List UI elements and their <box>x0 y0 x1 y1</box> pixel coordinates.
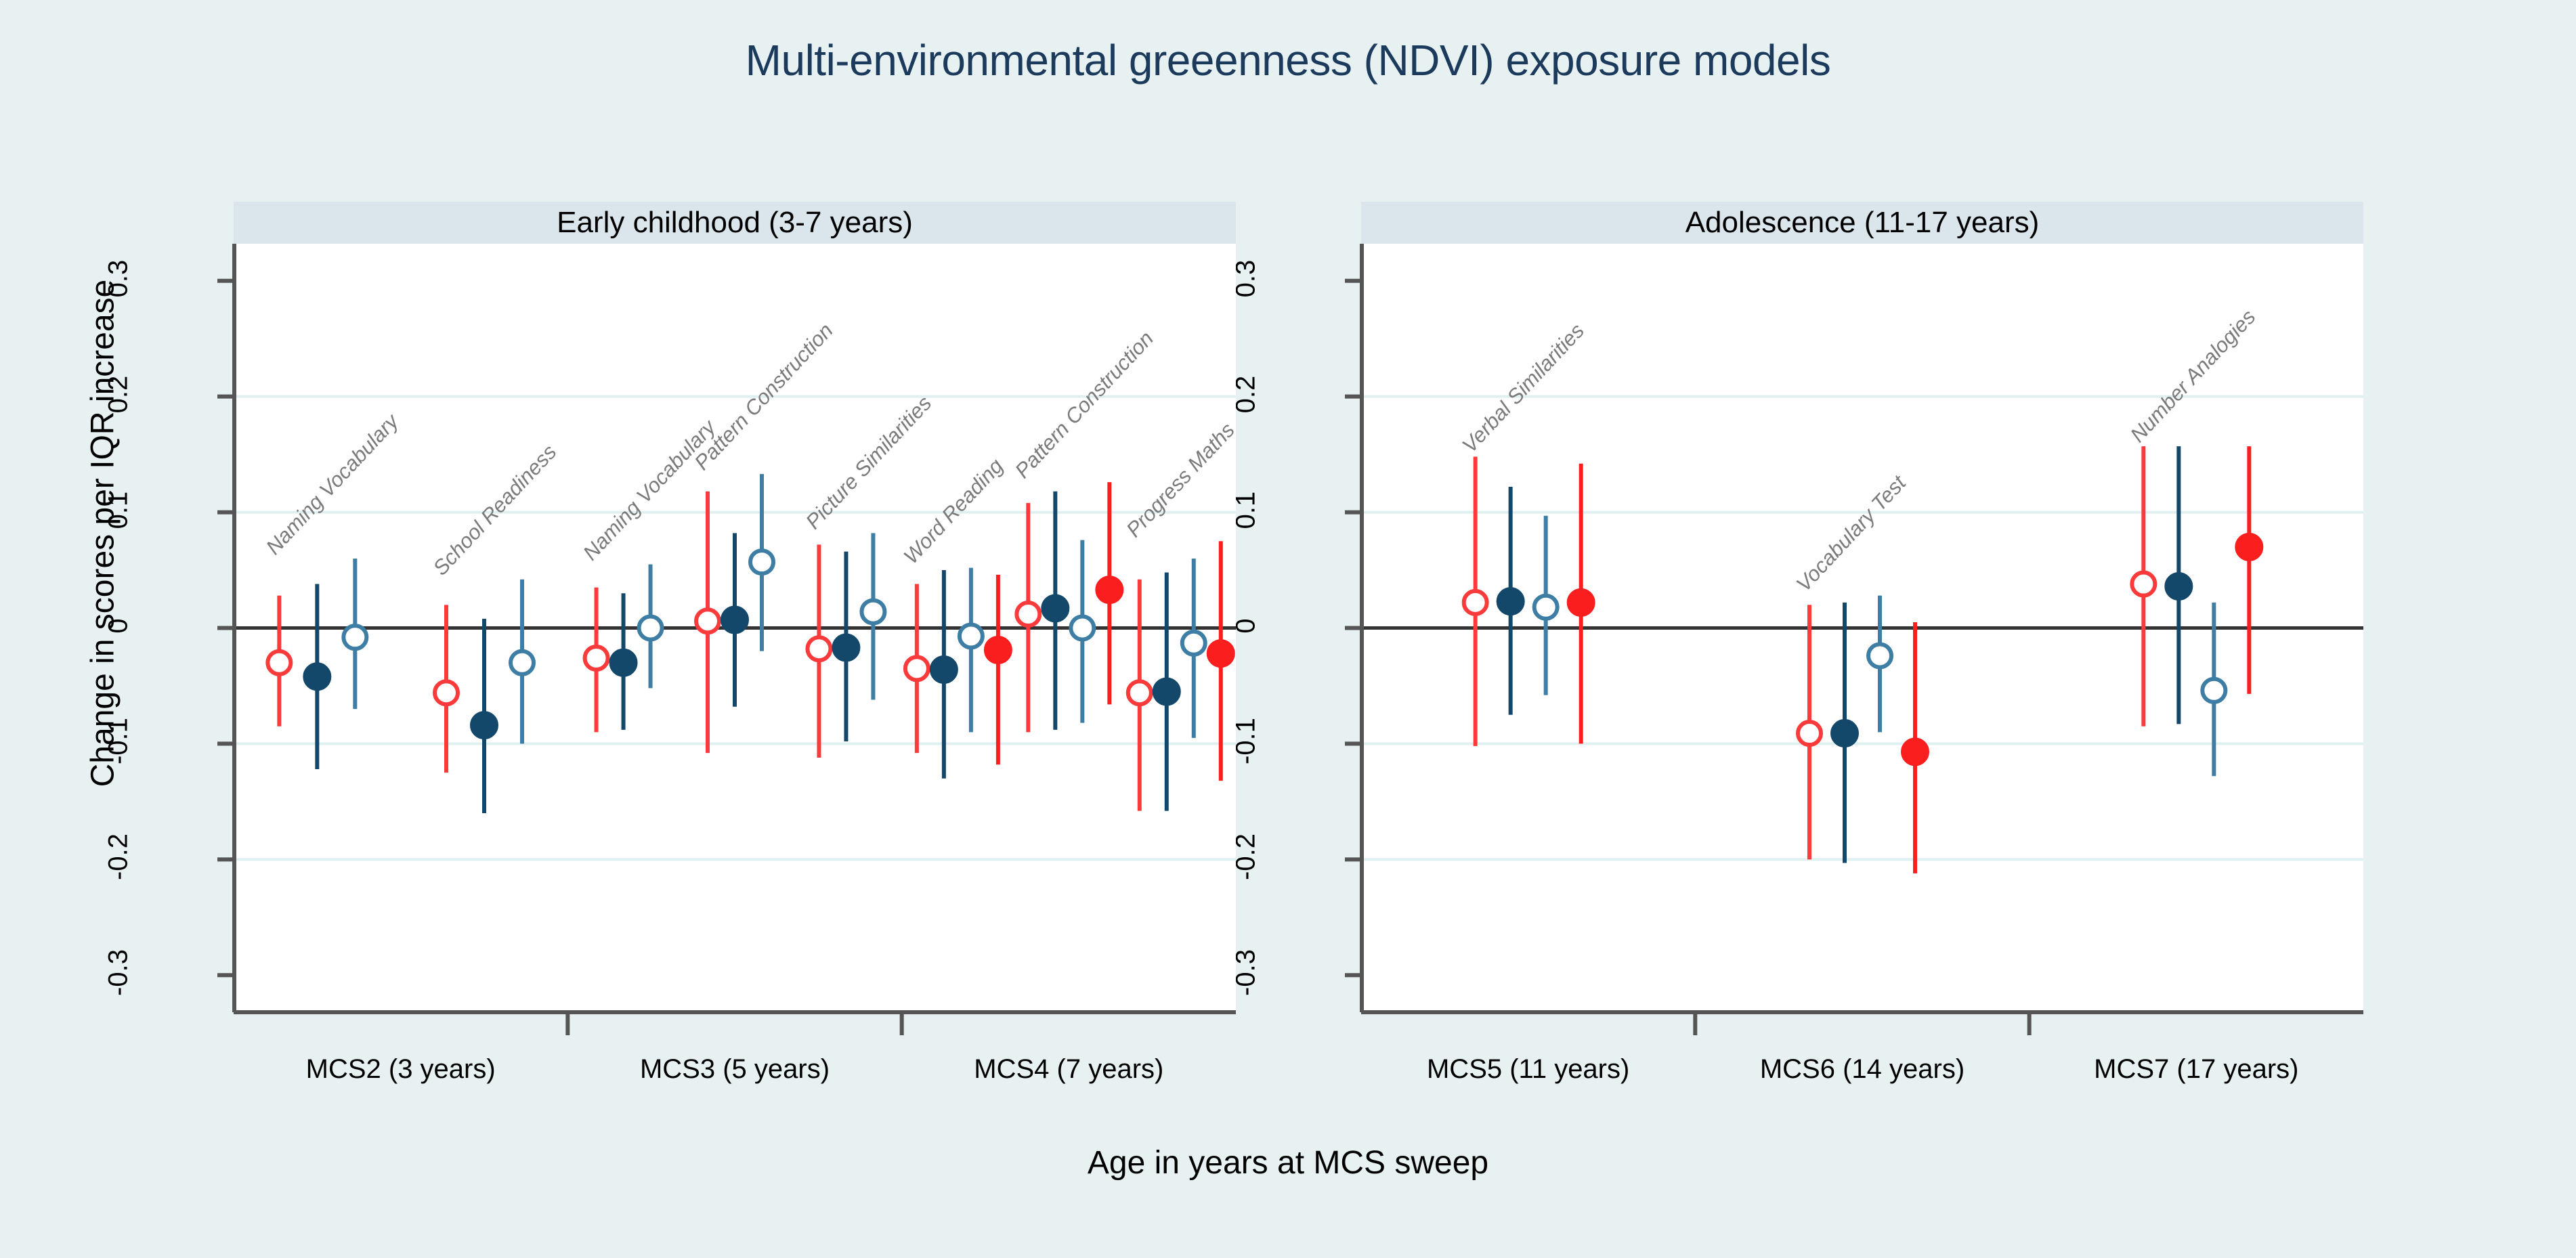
point-estimate-marker-open <box>435 681 458 704</box>
point-estimate-marker-filled <box>833 635 859 661</box>
plot-panel-early-childhood: Naming VocabularySchool ReadinessNaming … <box>234 244 1236 1093</box>
point-estimate-marker-filled <box>1042 595 1068 621</box>
point-estimate-marker-open <box>1071 617 1094 640</box>
point-estimate-marker-filled <box>471 712 497 738</box>
point-estimate-marker-open <box>585 647 608 670</box>
x-axis-label: Age in years at MCS sweep <box>0 1144 2576 1181</box>
point-estimate-marker-open <box>750 550 773 573</box>
panel-title-adolescence: Adolescence (11-17 years) <box>1361 202 2363 244</box>
y-tick-label: 0.1 <box>104 442 134 578</box>
point-estimate-marker-filled <box>1154 679 1180 705</box>
point-estimate-marker-open <box>639 617 662 640</box>
point-estimate-marker-open <box>861 601 884 624</box>
point-estimate-marker-filled <box>304 664 330 689</box>
point-estimate-marker-filled <box>722 607 748 633</box>
y-tick-label: -0.3 <box>104 905 134 1041</box>
point-estimate-marker-filled <box>1498 588 1524 614</box>
plot-panel-adolescence: Verbal SimilaritiesVocabulary TestNumber… <box>1361 244 2363 1093</box>
y-tick-label: 0.3 <box>104 211 134 346</box>
point-estimate-marker-open <box>1182 632 1205 655</box>
point-estimate-marker-filled <box>1208 641 1234 666</box>
point-estimate-marker-open <box>2132 573 2155 596</box>
point-estimate-marker-open <box>2202 679 2225 702</box>
point-estimate-marker-open <box>1016 603 1039 626</box>
point-estimate-marker-open <box>267 651 291 674</box>
point-estimate-marker-filled <box>1096 577 1122 603</box>
point-estimate-marker-filled <box>1832 720 1858 746</box>
chart-title: Multi-environmental greeenness (NDVI) ex… <box>0 35 2576 85</box>
point-estimate-marker-open <box>511 651 534 674</box>
panel-title-text: Adolescence (11-17 years) <box>1686 206 2040 240</box>
point-estimate-marker-open <box>1534 596 1558 619</box>
point-estimate-marker-filled <box>985 637 1011 663</box>
point-estimate-marker-filled <box>1902 739 1928 764</box>
point-estimate-marker-open <box>905 657 928 680</box>
point-estimate-marker-open <box>1464 591 1487 614</box>
point-estimate-marker-open <box>1128 681 1151 704</box>
point-estimate-marker-open <box>696 609 719 632</box>
panel-title-early-childhood: Early childhood (3-7 years) <box>234 202 1236 244</box>
y-tick-label: 0.2 <box>104 326 134 462</box>
point-estimate-marker-open <box>960 624 983 647</box>
point-estimate-marker-open <box>1798 722 1821 745</box>
point-estimate-marker-filled <box>931 657 957 682</box>
figure-canvas: Multi-environmental greeenness (NDVI) ex… <box>0 0 2576 1258</box>
point-estimate-marker-filled <box>2166 573 2191 599</box>
point-estimate-marker-open <box>807 637 830 660</box>
point-estimate-marker-open <box>343 626 366 649</box>
point-estimate-marker-open <box>1868 645 1891 668</box>
point-estimate-marker-filled <box>611 650 637 676</box>
point-estimate-marker-filled <box>1568 590 1594 615</box>
panel-title-text: Early childhood (3-7 years) <box>557 206 913 240</box>
point-estimate-marker-filled <box>2236 534 2262 560</box>
